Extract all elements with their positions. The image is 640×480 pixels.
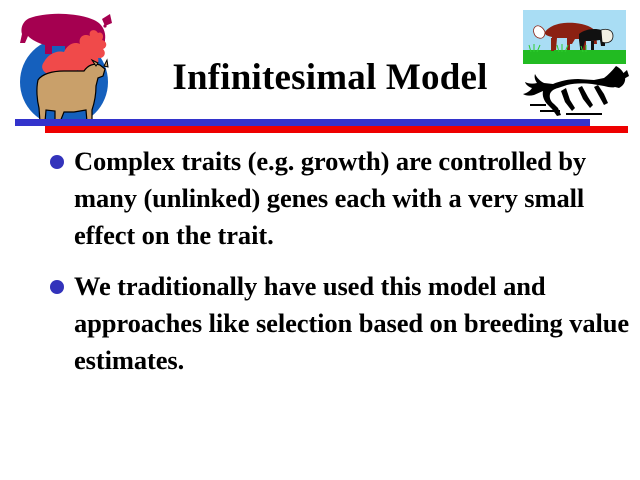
bullet-circle-icon <box>50 155 64 169</box>
bullet-text: Complex traits (e.g. growth) are control… <box>74 143 630 254</box>
divider-bar-red <box>45 126 628 133</box>
list-item: We traditionally have used this model an… <box>50 268 630 379</box>
bullet-circle-icon <box>50 280 64 294</box>
grass <box>523 50 626 64</box>
cattle-photo <box>523 10 626 64</box>
slide-canvas: Infinitesimal Model <box>0 0 640 480</box>
list-item: Complex traits (e.g. growth) are control… <box>50 143 630 254</box>
livestock-logo <box>8 4 120 130</box>
bullet-text: We traditionally have used this model an… <box>74 268 630 379</box>
slide-header: Infinitesimal Model <box>0 0 640 140</box>
slide-body: Complex traits (e.g. growth) are control… <box>50 143 630 393</box>
page-title: Infinitesimal Model <box>150 56 510 100</box>
divider-bar-blue <box>15 119 590 126</box>
galloping-horse-silhouette <box>520 64 632 122</box>
